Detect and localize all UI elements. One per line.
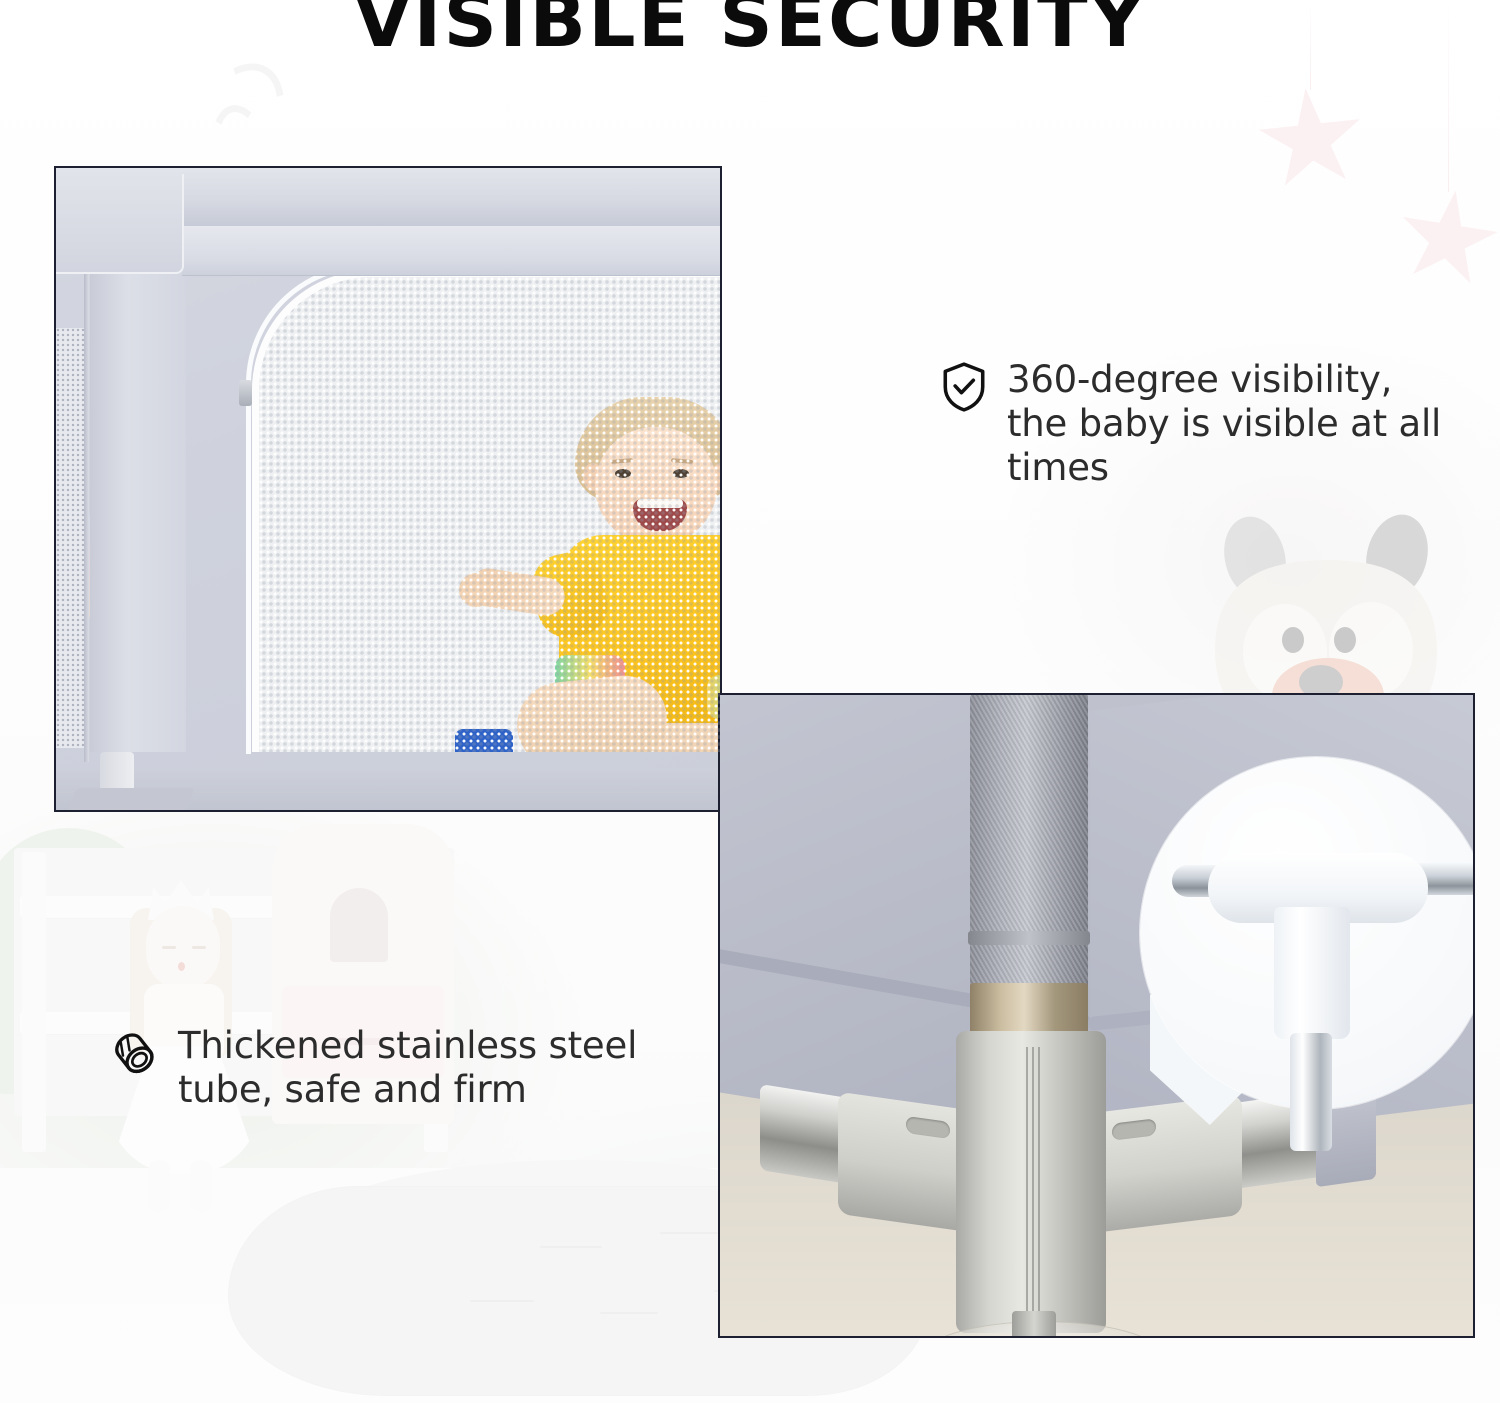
doll-leg: [148, 1160, 170, 1212]
connector-groove: [1038, 1047, 1040, 1317]
connector-groove: [1032, 1047, 1034, 1317]
playpen-foot-base: [67, 788, 195, 812]
playpen-seam: [84, 272, 89, 762]
cabinet-arch: [330, 888, 388, 962]
playpen-corner-flap: [56, 174, 184, 274]
doll-head: [146, 906, 220, 990]
playpen-foot-column: [100, 752, 134, 792]
connector-groove: [1026, 1047, 1028, 1317]
rug-stitch: [600, 1312, 658, 1314]
doll-eye: [162, 946, 176, 949]
mesh-window: [252, 270, 722, 752]
page-title: VISIBLE SECURITY: [0, 0, 1500, 56]
callout-rod-down: [1290, 1033, 1332, 1151]
doll-mouth: [178, 962, 185, 971]
foot-stem: [1012, 1311, 1056, 1338]
playpen-post: [90, 272, 186, 752]
photo-baby-in-playpen: [54, 166, 722, 812]
doll-eye: [192, 946, 206, 949]
mesh-weave-overlay: [259, 277, 722, 752]
rug-stitch: [540, 1246, 602, 1248]
callout-t-connector-stem: [1274, 907, 1350, 1039]
doll-leg: [190, 1160, 212, 1212]
feature-visibility-text: 360-degree visibility, the baby is visib…: [1007, 358, 1461, 490]
shelf-post: [22, 852, 46, 1152]
playpen-second-rail: [182, 226, 722, 276]
shield-check-icon: [941, 361, 987, 413]
zipper-pull-icon: [239, 380, 252, 406]
feature-visibility: 360-degree visibility, the baby is visib…: [941, 358, 1461, 490]
rug-stitch: [470, 1300, 534, 1302]
mesh-zipper-track: [246, 418, 251, 754]
post-ring: [968, 931, 1090, 945]
corner-connector: [956, 1031, 1106, 1333]
feature-steel-tube: Thickened stainless steel tube, safe and…: [112, 1024, 642, 1112]
steel-tube-icon: [112, 1027, 158, 1079]
feature-steel-tube-text: Thickened stainless steel tube, safe and…: [178, 1024, 642, 1112]
rug-stitch: [660, 1232, 718, 1234]
photo-corner-joint-detail: [718, 693, 1475, 1338]
